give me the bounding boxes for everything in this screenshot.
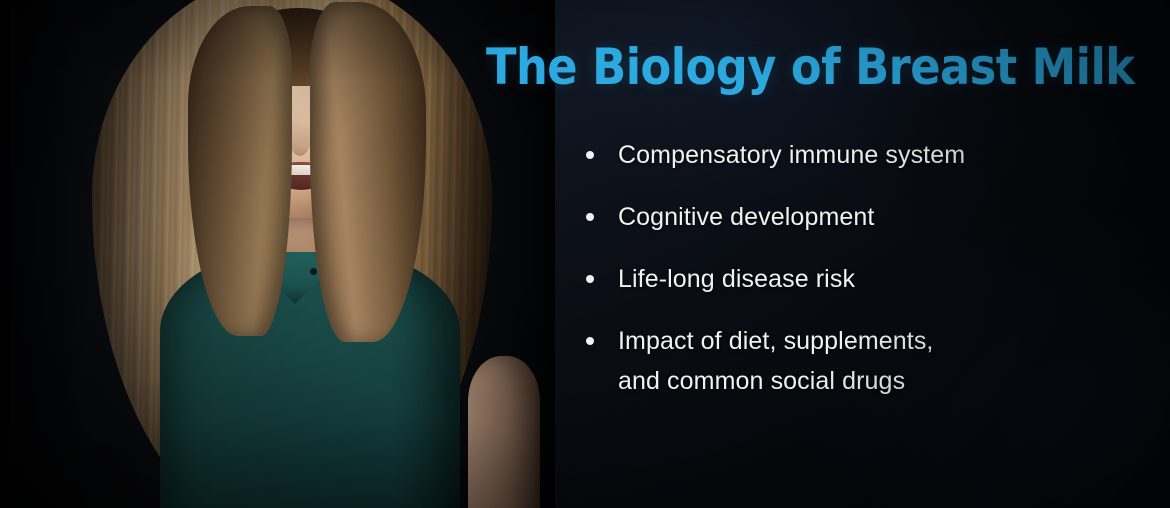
presentation-slide: The Biology of Breast Milk Compensatory … <box>0 0 1170 508</box>
presenter-arm <box>468 356 540 508</box>
list-item: Impact of diet, supplements, and common … <box>586 321 1106 401</box>
bullet-dot-icon <box>586 151 594 159</box>
bullet-label: Cognitive development <box>618 197 874 237</box>
bullet-label: Impact of diet, supplements, and common … <box>618 321 933 401</box>
presenter-collar-button <box>310 268 317 275</box>
list-item: Life-long disease risk <box>586 259 1106 299</box>
bullet-label: Life-long disease risk <box>618 259 855 299</box>
presenter-video <box>10 0 555 508</box>
presenter-nose <box>289 118 311 156</box>
left-letterbox-bar <box>0 0 10 508</box>
slide-title: The Biology of Breast Milk <box>486 38 1135 96</box>
bullet-dot-icon <box>586 213 594 221</box>
bullet-label: Compensatory immune system <box>618 135 965 175</box>
slide-bullet-list: Compensatory immune system Cognitive dev… <box>586 135 1106 401</box>
bullet-dot-icon <box>586 275 594 283</box>
bullet-dot-icon <box>586 337 594 345</box>
list-item: Cognitive development <box>586 197 1106 237</box>
list-item: Compensatory immune system <box>586 135 1106 175</box>
